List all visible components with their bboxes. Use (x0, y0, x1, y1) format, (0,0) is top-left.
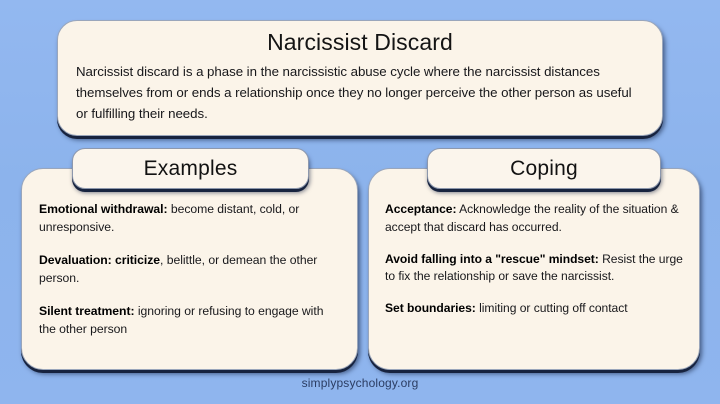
examples-section-label: Examples (144, 158, 238, 179)
coping-entry-list: Acceptance: Acknowledge the reality of t… (369, 201, 699, 332)
entry-lead: Avoid falling into a "rescue" mindset: (385, 252, 599, 266)
title-card: Narcissist Discard Narcissist discard is… (57, 20, 663, 136)
coping-section-label: Coping (510, 158, 578, 179)
examples-entry-list: Emotional withdrawal: become distant, co… (22, 201, 357, 339)
list-item: Avoid falling into a "rescue" mindset: R… (385, 251, 686, 287)
infographic-canvas: Narcissist Discard Narcissist discard is… (0, 0, 720, 404)
entry-rest: limiting or cutting off contact (476, 301, 628, 315)
list-item: Devaluation: criticize, belittle, or dem… (39, 252, 341, 288)
source-attribution: simplypsychology.org (0, 376, 720, 390)
list-item: Silent treatment: ignoring or refusing t… (39, 303, 341, 339)
examples-section-header: Examples (72, 148, 309, 189)
coping-card: Acceptance: Acknowledge the reality of t… (368, 168, 700, 370)
title-description: Narcissist discard is a phase in the nar… (76, 61, 644, 124)
examples-card: Emotional withdrawal: become distant, co… (21, 168, 358, 370)
entry-lead: Set boundaries: (385, 301, 476, 315)
list-item: Acceptance: Acknowledge the reality of t… (385, 201, 686, 237)
entry-lead: Emotional withdrawal: (39, 202, 168, 216)
list-item: Set boundaries: limiting or cutting off … (385, 300, 686, 318)
page-title: Narcissist Discard (76, 29, 644, 56)
entry-lead: Silent treatment: (39, 304, 134, 318)
coping-section-header: Coping (427, 148, 661, 189)
entry-lead: Devaluation: criticize (39, 253, 160, 267)
list-item: Emotional withdrawal: become distant, co… (39, 201, 341, 237)
entry-lead: Acceptance: (385, 202, 456, 216)
